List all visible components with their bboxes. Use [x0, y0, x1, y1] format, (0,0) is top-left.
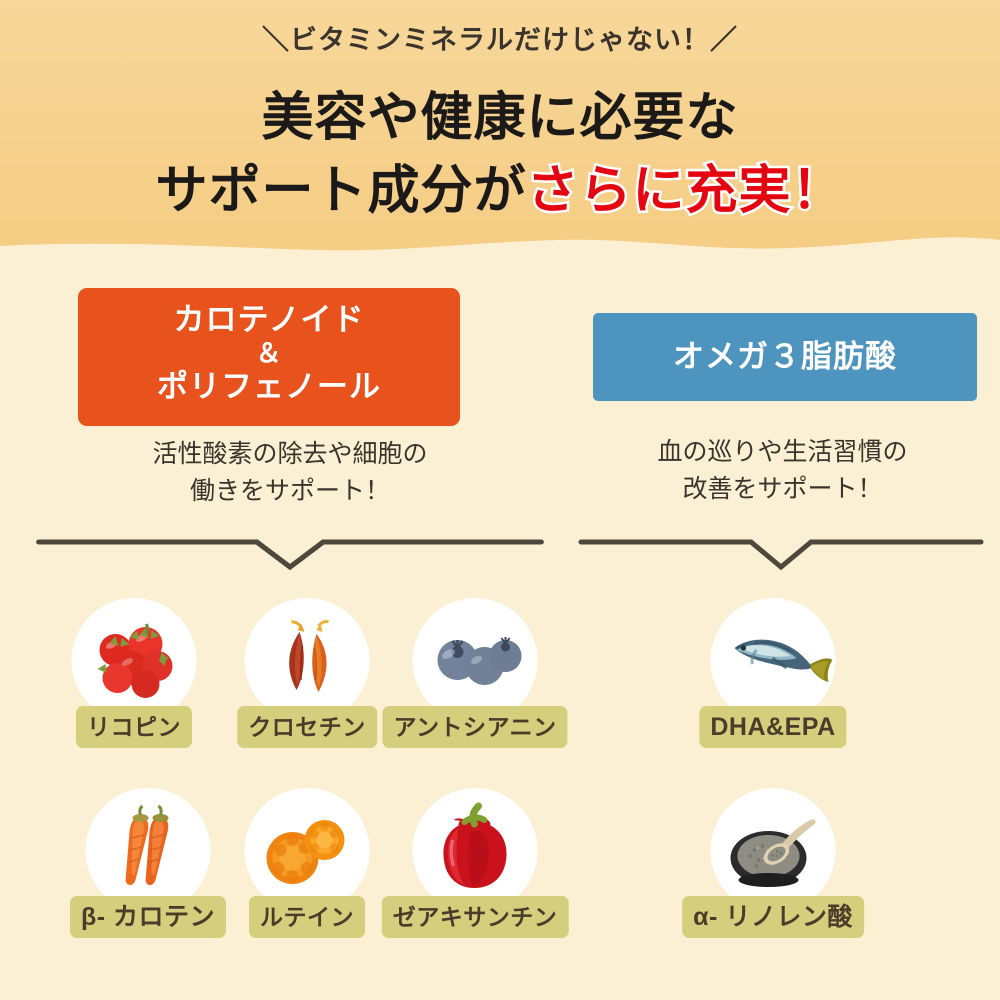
ingredient-label: クロセチン	[237, 706, 377, 748]
item-row: DHA&EPA	[565, 598, 1000, 788]
tomatoes-icon	[72, 598, 197, 723]
saffron-icon	[245, 598, 370, 723]
category-description-line-2: 改善をサポート！	[565, 471, 1000, 508]
ingredient-label: α- リノレン酸	[682, 896, 864, 938]
category-title-line-1: オメガ３脂肪酸	[593, 313, 977, 401]
infographic-root: ＼ビタミンミネラルだけじゃない！／ 美容や健康に必要な サポート成分がさらに充実…	[0, 0, 1000, 1000]
headline-line-2-black: サポート成分が	[155, 162, 526, 220]
red-bell-pepper-icon	[413, 788, 538, 913]
carrots-icon	[86, 788, 211, 913]
marigold-icon	[245, 788, 370, 913]
blueberries-icon	[413, 598, 538, 723]
ingredient-label: ルテイン	[249, 896, 365, 938]
category-card-carotenoid-polyphenol: カロテノイド ＆ ポリフェノール	[78, 288, 460, 426]
kicker-text: ＼ビタミンミネラルだけじゃない！／	[0, 18, 1000, 57]
category-description-line-1: 血の巡りや生活習慣の	[565, 434, 1000, 471]
chevron-down-divider-icon	[30, 534, 550, 574]
ingredient-label: アントシアニン	[382, 706, 567, 748]
seed-bowl-icon	[711, 788, 836, 913]
headline-line-1: 美容や健康に必要な	[0, 75, 1000, 150]
category-description-line-2: 働きをサポート！	[30, 473, 550, 510]
item-grid-omega3: DHA&EPA	[565, 598, 1000, 978]
headline-line-2-red: さらに充実！	[527, 162, 845, 220]
header-band: ＼ビタミンミネラルだけじゃない！／ 美容や健康に必要な サポート成分がさらに充実…	[0, 0, 1000, 272]
ingredient-label: β- カロテン	[70, 896, 226, 938]
category-description-omega3: 血の巡りや生活習慣の 改善をサポート！	[565, 434, 1000, 508]
headline-line-2: サポート成分がさらに充実！	[0, 148, 1000, 223]
chevron-down-divider-icon	[575, 534, 987, 574]
fish-icon	[711, 598, 836, 723]
item-row: β- カロテン	[30, 788, 550, 978]
ingredient-label: リコピン	[76, 706, 192, 748]
category-title-line-1: カロテノイド	[78, 301, 460, 338]
header-text: ＼ビタミンミネラルだけじゃない！／ 美容や健康に必要な サポート成分がさらに充実…	[0, 0, 1000, 250]
category-title-line-2: ポリフェノール	[78, 368, 460, 405]
category-description-carotenoid-polyphenol: 活性酸素の除去や細胞の 働きをサポート！	[30, 436, 550, 510]
item-grid-carotenoid-polyphenol: リコピン	[30, 598, 550, 978]
item-row: リコピン	[30, 598, 550, 788]
ingredient-label: DHA&EPA	[699, 706, 846, 748]
ingredient-label: ゼアキサンチン	[382, 896, 569, 938]
category-description-line-1: 活性酸素の除去や細胞の	[30, 436, 550, 473]
item-row: α- リノレン酸	[565, 788, 1000, 978]
category-title-ampersand: ＆	[78, 338, 460, 368]
category-card-omega3: オメガ３脂肪酸	[593, 313, 977, 401]
